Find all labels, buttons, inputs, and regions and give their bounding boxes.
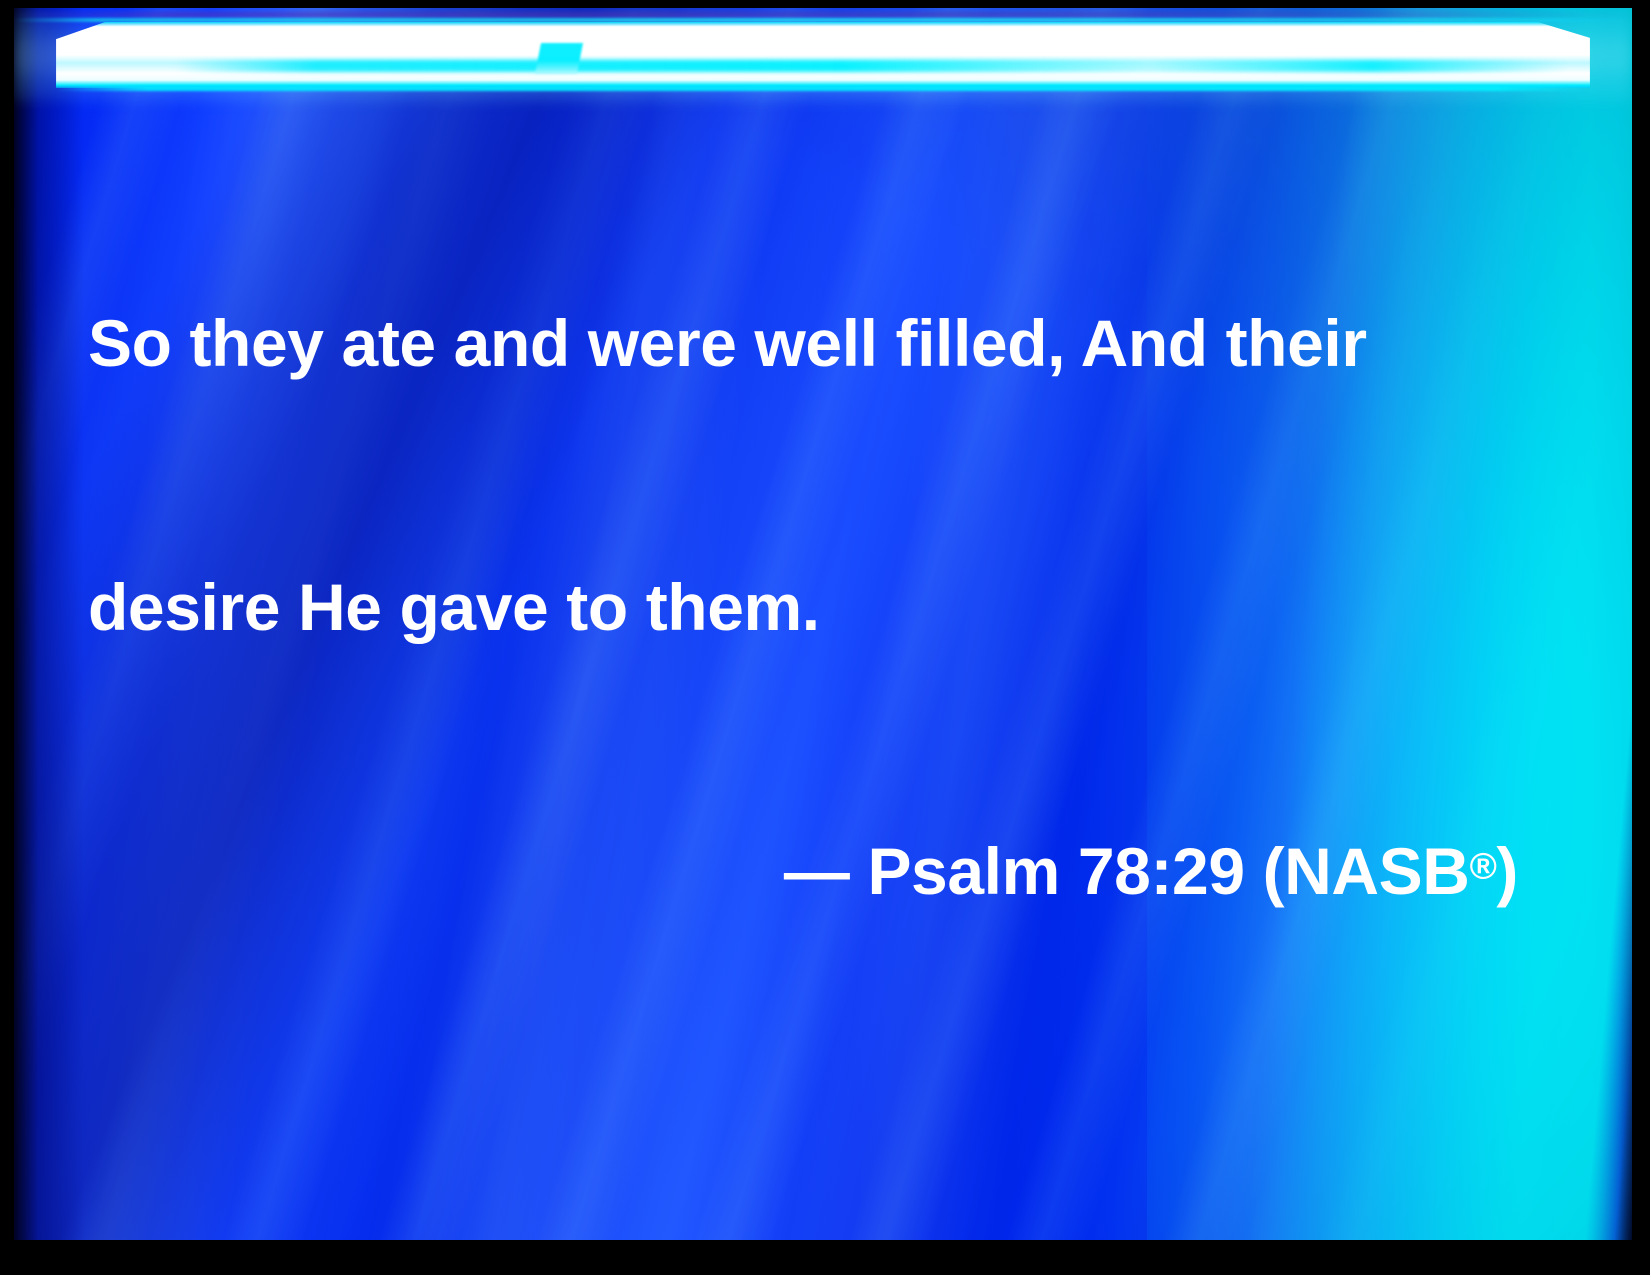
registered-trademark-icon: ® (1470, 845, 1497, 886)
light-bar-underline (56, 86, 1590, 91)
citation-version-open: (NASB (1263, 834, 1470, 908)
light-bar-cyan-streak (176, 60, 1567, 73)
citation-spacer (850, 834, 868, 908)
citation-version-close: ) (1496, 834, 1518, 908)
verse-body-line-2: desire He gave to them. (88, 563, 1518, 651)
verse-slide: So they ate and were well filled, And th… (0, 0, 1650, 1275)
citation-reference: Psalm 78:29 (867, 834, 1244, 908)
citation-spacer-2 (1245, 834, 1263, 908)
verse-citation: — Psalm 78:29 (NASB®) (88, 827, 1518, 915)
verse-text-block: So they ate and were well filled, And th… (88, 123, 1518, 1091)
citation-em-dash: — (784, 834, 850, 908)
slide-artwork-canvas: So they ate and were well filled, And th… (14, 8, 1632, 1240)
verse-body-line-1: So they ate and were well filled, And th… (88, 299, 1518, 387)
light-bar-core (56, 22, 1590, 88)
light-bar-center-notch (535, 43, 583, 74)
top-light-bar (14, 22, 1632, 88)
